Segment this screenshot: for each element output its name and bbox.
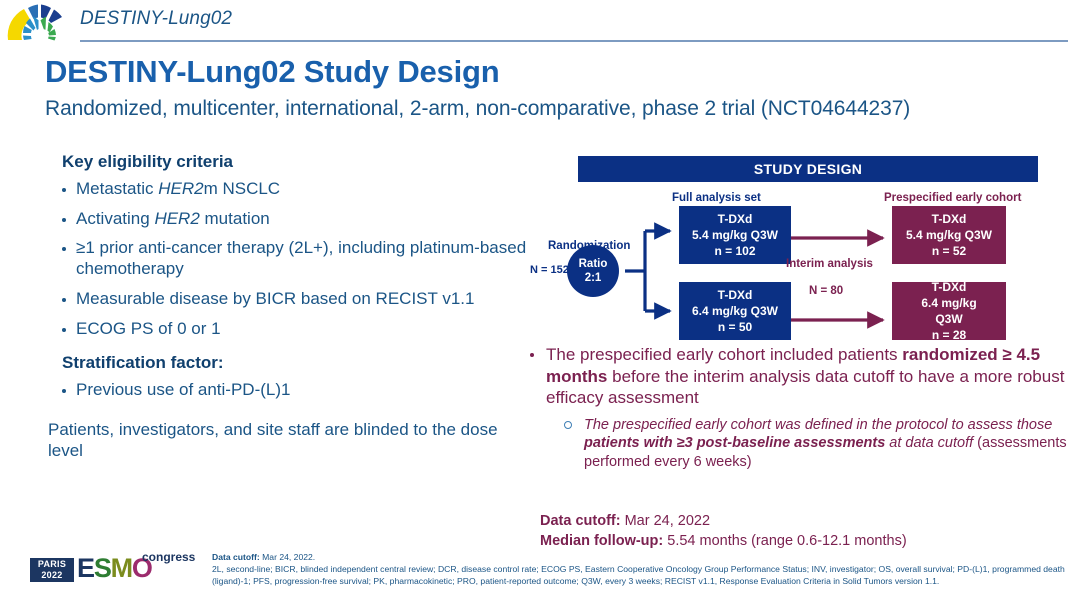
list-item: Activating HER2 mutation	[48, 209, 528, 230]
box-pec-arm1: T-DXd 5.4 mg/kg Q3W n = 52	[892, 206, 1006, 264]
list-item: ≥1 prior anti-cancer therapy (2L+), incl…	[48, 238, 528, 279]
interim-analysis-label: Interim analysis	[786, 258, 873, 270]
box-pec-arm2: T-DXd 6.4 mg/kg Q3W n = 28	[892, 282, 1006, 340]
box-dose: 6.4 mg/kg Q3W	[692, 303, 778, 319]
bullet-text-part2: before the interim analysis data cutoff …	[546, 367, 1064, 408]
footnote-block: Data cutoff: Mar 24, 2022. 2L, second-li…	[212, 551, 1072, 588]
esmo-letter-m: M	[111, 553, 132, 583]
box-drug: T-DXd	[718, 211, 753, 227]
data-cutoff-line: Data cutoff: Mar 24, 2022	[540, 512, 907, 532]
median-followup-value: 5.54 months (range 0.6-12.1 months)	[663, 533, 906, 549]
box-drug: T-DXd	[932, 211, 967, 227]
esmo-letter-e: E	[77, 553, 94, 583]
study-design-banner: STUDY DESIGN	[578, 156, 1038, 182]
page-subtitle: Randomized, multicenter, international, …	[45, 97, 910, 121]
paris-line-2: 2022	[30, 570, 74, 581]
subbullet-text-part1: The prespecified early cohort was define…	[584, 417, 1052, 433]
bullet-text-part1: The prespecified early cohort included p…	[546, 345, 902, 364]
list-item: Measurable disease by BICR based on RECI…	[48, 289, 528, 310]
footnote-cutoff-line: Data cutoff: Mar 24, 2022.	[212, 551, 1072, 563]
box-n: n = 28	[932, 327, 966, 343]
box-dose-line2: Q3W	[935, 311, 962, 327]
prespecified-cohort-subbullet: The prespecified early cohort was define…	[560, 416, 1078, 472]
subbullet-text-bold: patients with ≥3 post-baseline assessmen…	[584, 435, 885, 451]
median-followup-label: Median follow-up:	[540, 533, 663, 549]
list-item: Metastatic HER2m NSCLC	[48, 179, 528, 200]
page-title: DESTINY-Lung02 Study Design	[45, 54, 499, 90]
box-n: n = 102	[714, 243, 755, 259]
blinding-note: Patients, investigators, and site staff …	[48, 419, 528, 462]
box-drug: T-DXd	[932, 279, 967, 295]
esmo-letter-s: S	[94, 553, 111, 583]
ratio-line-1: Ratio	[579, 257, 608, 271]
slide-root: DESTINY-Lung02 DESTINY-Lung02 Study Desi…	[0, 0, 1080, 605]
esmo-congress-logo: PARIS 2022 ESMO congress	[30, 548, 200, 582]
column-label-prespecified-early-cohort: Prespecified early cohort	[884, 192, 1021, 204]
box-n: n = 52	[932, 243, 966, 259]
box-dose: 5.4 mg/kg Q3W	[692, 227, 778, 243]
data-cutoff-label: Data cutoff:	[540, 513, 621, 529]
footnote-abbreviations: 2L, second-line; BICR, blinded independe…	[212, 563, 1072, 587]
header-study-name: DESTINY-Lung02	[80, 8, 232, 30]
stratification-list: Previous use of anti-PD-(L)1	[48, 380, 528, 401]
congress-word: congress	[142, 550, 195, 564]
ratio-line-2: 2:1	[585, 271, 602, 285]
paris-line-1: PARIS	[30, 559, 74, 570]
interim-analysis-n: N = 80	[809, 285, 843, 297]
box-n: n = 50	[718, 319, 752, 335]
box-drug: T-DXd	[718, 287, 753, 303]
box-dose-line1: 6.4 mg/kg	[921, 295, 976, 311]
total-n-label: N = 152	[530, 264, 569, 276]
randomization-ratio-node: Ratio 2:1	[567, 245, 619, 297]
subbullet-text-part2: at data cutoff	[885, 435, 973, 451]
slide-header: DESTINY-Lung02	[0, 0, 1080, 46]
list-item: Previous use of anti-PD-(L)1	[48, 380, 528, 401]
eligibility-heading: Key eligibility criteria	[62, 152, 528, 172]
box-dose: 5.4 mg/kg Q3W	[906, 227, 992, 243]
data-cutoff-value: Mar 24, 2022	[621, 513, 710, 529]
box-fas-arm1: T-DXd 5.4 mg/kg Q3W n = 102	[679, 206, 791, 264]
median-followup-line: Median follow-up: 5.54 months (range 0.6…	[540, 532, 907, 552]
footnote-cutoff-label: Data cutoff:	[212, 552, 260, 562]
prespecified-cohort-bullet: The prespecified early cohort included p…	[520, 344, 1078, 409]
esmo-wordmark: ESMO	[77, 555, 152, 582]
box-fas-arm2: T-DXd 6.4 mg/kg Q3W n = 50	[679, 282, 791, 340]
esmo-fan-logo-icon	[4, 2, 72, 42]
paris-2022-badge: PARIS 2022	[30, 558, 74, 582]
list-item: ECOG PS of 0 or 1	[48, 319, 528, 340]
stratification-heading: Stratification factor:	[62, 353, 528, 373]
data-cutoff-block: Data cutoff: Mar 24, 2022 Median follow-…	[540, 512, 907, 551]
header-divider	[80, 40, 1068, 42]
right-bullets: The prespecified early cohort included p…	[520, 344, 1078, 471]
column-label-full-analysis-set: Full analysis set	[672, 192, 761, 204]
left-column: Key eligibility criteria Metastatic HER2…	[48, 152, 528, 462]
eligibility-list: Metastatic HER2m NSCLC Activating HER2 m…	[48, 179, 528, 339]
footnote-cutoff-value: Mar 24, 2022.	[260, 552, 315, 562]
